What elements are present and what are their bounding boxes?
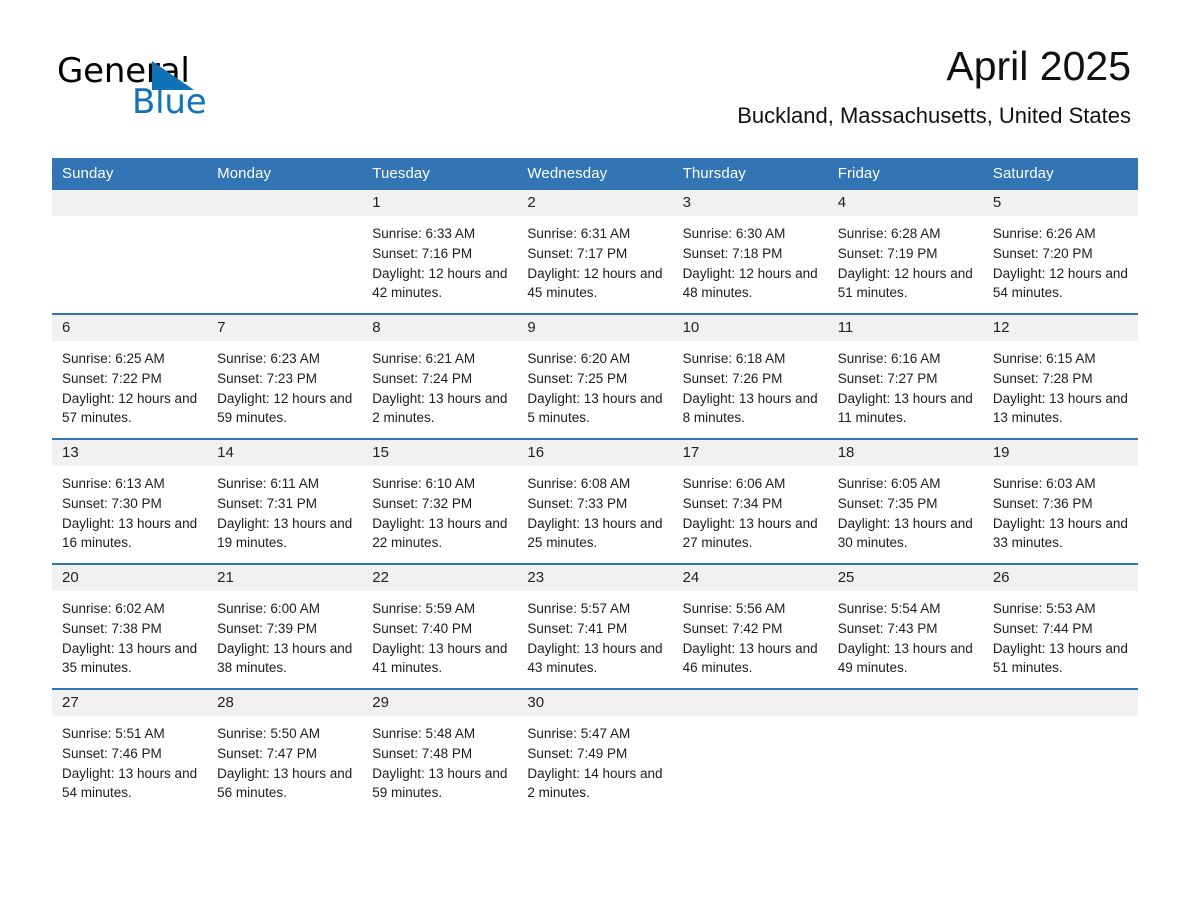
- sunrise-text: Sunrise: 6:21 AM: [372, 349, 511, 369]
- sunrise-text: Sunrise: 5:57 AM: [527, 599, 666, 619]
- calendar-day-cell[interactable]: 8Sunrise: 6:21 AMSunset: 7:24 PMDaylight…: [362, 315, 517, 438]
- day-number-band: 28: [207, 690, 362, 716]
- daylight-text: Daylight: 14 hours and 2 minutes.: [527, 764, 666, 804]
- day-number-band: 8: [362, 315, 517, 341]
- daylight-text: Daylight: 12 hours and 42 minutes.: [372, 264, 511, 304]
- daylight-text: Daylight: 13 hours and 16 minutes.: [62, 514, 201, 554]
- daylight-text: Daylight: 12 hours and 57 minutes.: [62, 389, 201, 429]
- daylight-text: Daylight: 13 hours and 56 minutes.: [217, 764, 356, 804]
- sunrise-text: Sunrise: 6:03 AM: [993, 474, 1132, 494]
- title-block: April 2025 Buckland, Massachusetts, Unit…: [737, 42, 1131, 129]
- day-number-band: [828, 690, 983, 716]
- day-details: Sunrise: 6:11 AMSunset: 7:31 PMDaylight:…: [207, 466, 362, 553]
- day-number: 5: [983, 190, 1138, 216]
- day-details: Sunrise: 6:26 AMSunset: 7:20 PMDaylight:…: [983, 216, 1138, 303]
- sunrise-text: Sunrise: 5:50 AM: [217, 724, 356, 744]
- sunset-text: Sunset: 7:36 PM: [993, 494, 1132, 514]
- day-number: 2: [517, 190, 672, 216]
- day-details: Sunrise: 5:54 AMSunset: 7:43 PMDaylight:…: [828, 591, 983, 678]
- location-subtitle: Buckland, Massachusetts, United States: [737, 103, 1131, 129]
- calendar-day-cell[interactable]: 27Sunrise: 5:51 AMSunset: 7:46 PMDayligh…: [52, 690, 207, 813]
- day-number: 27: [52, 690, 207, 716]
- calendar-day-cell-empty: [983, 690, 1138, 813]
- sunrise-sunset-calendar: SundayMondayTuesdayWednesdayThursdayFrid…: [52, 158, 1138, 813]
- calendar-day-cell[interactable]: 7Sunrise: 6:23 AMSunset: 7:23 PMDaylight…: [207, 315, 362, 438]
- sunrise-text: Sunrise: 6:33 AM: [372, 224, 511, 244]
- daylight-text: Daylight: 13 hours and 25 minutes.: [527, 514, 666, 554]
- day-number: 14: [207, 440, 362, 466]
- day-number: 26: [983, 565, 1138, 591]
- sunset-text: Sunset: 7:48 PM: [372, 744, 511, 764]
- calendar-day-cell-empty: [52, 190, 207, 313]
- calendar-header-row: SundayMondayTuesdayWednesdayThursdayFrid…: [52, 158, 1138, 190]
- day-details: Sunrise: 6:21 AMSunset: 7:24 PMDaylight:…: [362, 341, 517, 428]
- day-details: Sunrise: 6:06 AMSunset: 7:34 PMDaylight:…: [673, 466, 828, 553]
- day-number-band: 30: [517, 690, 672, 716]
- sunset-text: Sunset: 7:26 PM: [683, 369, 822, 389]
- sunrise-text: Sunrise: 6:16 AM: [838, 349, 977, 369]
- calendar-day-cell[interactable]: 4Sunrise: 6:28 AMSunset: 7:19 PMDaylight…: [828, 190, 983, 313]
- day-details: Sunrise: 6:08 AMSunset: 7:33 PMDaylight:…: [517, 466, 672, 553]
- calendar-day-cell[interactable]: 16Sunrise: 6:08 AMSunset: 7:33 PMDayligh…: [517, 440, 672, 563]
- sunrise-text: Sunrise: 6:02 AM: [62, 599, 201, 619]
- sunrise-text: Sunrise: 5:51 AM: [62, 724, 201, 744]
- day-number-band: 29: [362, 690, 517, 716]
- sunset-text: Sunset: 7:20 PM: [993, 244, 1132, 264]
- weekday-header-friday: Friday: [828, 158, 983, 190]
- daylight-text: Daylight: 12 hours and 51 minutes.: [838, 264, 977, 304]
- daylight-text: Daylight: 13 hours and 38 minutes.: [217, 639, 356, 679]
- day-number: 25: [828, 565, 983, 591]
- day-details: Sunrise: 5:48 AMSunset: 7:48 PMDaylight:…: [362, 716, 517, 803]
- day-number: 29: [362, 690, 517, 716]
- day-number-band: 2: [517, 190, 672, 216]
- day-details: Sunrise: 5:56 AMSunset: 7:42 PMDaylight:…: [673, 591, 828, 678]
- weekday-header-monday: Monday: [207, 158, 362, 190]
- day-number-band: 22: [362, 565, 517, 591]
- daylight-text: Daylight: 13 hours and 33 minutes.: [993, 514, 1132, 554]
- sunrise-text: Sunrise: 5:54 AM: [838, 599, 977, 619]
- day-details: Sunrise: 5:59 AMSunset: 7:40 PMDaylight:…: [362, 591, 517, 678]
- day-number: 19: [983, 440, 1138, 466]
- daylight-text: Daylight: 13 hours and 41 minutes.: [372, 639, 511, 679]
- day-details: Sunrise: 6:18 AMSunset: 7:26 PMDaylight:…: [673, 341, 828, 428]
- calendar-day-cell[interactable]: 5Sunrise: 6:26 AMSunset: 7:20 PMDaylight…: [983, 190, 1138, 313]
- day-details: Sunrise: 6:00 AMSunset: 7:39 PMDaylight:…: [207, 591, 362, 678]
- sunset-text: Sunset: 7:49 PM: [527, 744, 666, 764]
- daylight-text: Daylight: 13 hours and 27 minutes.: [683, 514, 822, 554]
- weekday-header-sunday: Sunday: [52, 158, 207, 190]
- daylight-text: Daylight: 12 hours and 54 minutes.: [993, 264, 1132, 304]
- sunrise-text: Sunrise: 6:20 AM: [527, 349, 666, 369]
- day-number-band: 7: [207, 315, 362, 341]
- day-number-band: 9: [517, 315, 672, 341]
- day-number-band: [207, 190, 362, 216]
- calendar-day-cell[interactable]: 28Sunrise: 5:50 AMSunset: 7:47 PMDayligh…: [207, 690, 362, 813]
- sunrise-text: Sunrise: 6:11 AM: [217, 474, 356, 494]
- calendar-day-cell[interactable]: 19Sunrise: 6:03 AMSunset: 7:36 PMDayligh…: [983, 440, 1138, 563]
- daylight-text: Daylight: 13 hours and 59 minutes.: [372, 764, 511, 804]
- day-number: 17: [673, 440, 828, 466]
- daylight-text: Daylight: 13 hours and 51 minutes.: [993, 639, 1132, 679]
- sunset-text: Sunset: 7:33 PM: [527, 494, 666, 514]
- day-number: 13: [52, 440, 207, 466]
- calendar-day-cell[interactable]: 30Sunrise: 5:47 AMSunset: 7:49 PMDayligh…: [517, 690, 672, 813]
- sunrise-text: Sunrise: 6:18 AM: [683, 349, 822, 369]
- day-details: Sunrise: 5:51 AMSunset: 7:46 PMDaylight:…: [52, 716, 207, 803]
- sunrise-text: Sunrise: 6:05 AM: [838, 474, 977, 494]
- day-number: 21: [207, 565, 362, 591]
- day-details: Sunrise: 6:16 AMSunset: 7:27 PMDaylight:…: [828, 341, 983, 428]
- day-number: 4: [828, 190, 983, 216]
- weekday-header-saturday: Saturday: [983, 158, 1138, 190]
- day-number: 16: [517, 440, 672, 466]
- sunset-text: Sunset: 7:41 PM: [527, 619, 666, 639]
- daylight-text: Daylight: 13 hours and 5 minutes.: [527, 389, 666, 429]
- day-number-band: 20: [52, 565, 207, 591]
- sunrise-text: Sunrise: 5:56 AM: [683, 599, 822, 619]
- calendar-day-cell[interactable]: 10Sunrise: 6:18 AMSunset: 7:26 PMDayligh…: [673, 315, 828, 438]
- day-details: Sunrise: 5:53 AMSunset: 7:44 PMDaylight:…: [983, 591, 1138, 678]
- calendar-day-cell[interactable]: 2Sunrise: 6:31 AMSunset: 7:17 PMDaylight…: [517, 190, 672, 313]
- day-number: 24: [673, 565, 828, 591]
- day-number-band: 26: [983, 565, 1138, 591]
- day-number-band: 4: [828, 190, 983, 216]
- sunrise-text: Sunrise: 6:13 AM: [62, 474, 201, 494]
- sunrise-text: Sunrise: 6:06 AM: [683, 474, 822, 494]
- calendar-day-cell[interactable]: 18Sunrise: 6:05 AMSunset: 7:35 PMDayligh…: [828, 440, 983, 563]
- weekday-header-tuesday: Tuesday: [362, 158, 517, 190]
- sunrise-text: Sunrise: 6:10 AM: [372, 474, 511, 494]
- day-number: 18: [828, 440, 983, 466]
- day-number: 6: [52, 315, 207, 341]
- day-details: Sunrise: 6:28 AMSunset: 7:19 PMDaylight:…: [828, 216, 983, 303]
- sunrise-text: Sunrise: 6:31 AM: [527, 224, 666, 244]
- calendar-day-cell[interactable]: 24Sunrise: 5:56 AMSunset: 7:42 PMDayligh…: [673, 565, 828, 688]
- day-number: 9: [517, 315, 672, 341]
- daylight-text: Daylight: 12 hours and 45 minutes.: [527, 264, 666, 304]
- day-number-band: [983, 690, 1138, 716]
- daylight-text: Daylight: 12 hours and 59 minutes.: [217, 389, 356, 429]
- day-number: 8: [362, 315, 517, 341]
- day-details: Sunrise: 6:23 AMSunset: 7:23 PMDaylight:…: [207, 341, 362, 428]
- sunset-text: Sunset: 7:40 PM: [372, 619, 511, 639]
- sunrise-text: Sunrise: 6:28 AM: [838, 224, 977, 244]
- day-number: 28: [207, 690, 362, 716]
- sunset-text: Sunset: 7:23 PM: [217, 369, 356, 389]
- sunset-text: Sunset: 7:16 PM: [372, 244, 511, 264]
- calendar-day-cell-empty: [207, 190, 362, 313]
- sunset-text: Sunset: 7:22 PM: [62, 369, 201, 389]
- sunrise-text: Sunrise: 5:47 AM: [527, 724, 666, 744]
- calendar-day-cell[interactable]: 14Sunrise: 6:11 AMSunset: 7:31 PMDayligh…: [207, 440, 362, 563]
- weekday-header-thursday: Thursday: [673, 158, 828, 190]
- day-number-band: [52, 190, 207, 216]
- sunrise-text: Sunrise: 5:59 AM: [372, 599, 511, 619]
- calendar-page: General Blue April 2025 Buckland, Massac…: [0, 0, 1188, 918]
- calendar-day-cell[interactable]: 20Sunrise: 6:02 AMSunset: 7:38 PMDayligh…: [52, 565, 207, 688]
- day-details: Sunrise: 5:57 AMSunset: 7:41 PMDaylight:…: [517, 591, 672, 678]
- calendar-day-cell[interactable]: 11Sunrise: 6:16 AMSunset: 7:27 PMDayligh…: [828, 315, 983, 438]
- day-number-band: 6: [52, 315, 207, 341]
- calendar-day-cell[interactable]: 9Sunrise: 6:20 AMSunset: 7:25 PMDaylight…: [517, 315, 672, 438]
- sunset-text: Sunset: 7:35 PM: [838, 494, 977, 514]
- sunrise-text: Sunrise: 5:53 AM: [993, 599, 1132, 619]
- sunset-text: Sunset: 7:39 PM: [217, 619, 356, 639]
- calendar-day-cell[interactable]: 3Sunrise: 6:30 AMSunset: 7:18 PMDaylight…: [673, 190, 828, 313]
- day-number: 10: [673, 315, 828, 341]
- calendar-day-cell[interactable]: 13Sunrise: 6:13 AMSunset: 7:30 PMDayligh…: [52, 440, 207, 563]
- day-number-band: 1: [362, 190, 517, 216]
- day-number-band: 11: [828, 315, 983, 341]
- day-number-band: 16: [517, 440, 672, 466]
- sunset-text: Sunset: 7:34 PM: [683, 494, 822, 514]
- sunset-text: Sunset: 7:19 PM: [838, 244, 977, 264]
- day-number-band: 13: [52, 440, 207, 466]
- sunset-text: Sunset: 7:46 PM: [62, 744, 201, 764]
- day-number-band: 21: [207, 565, 362, 591]
- calendar-day-cell[interactable]: 21Sunrise: 6:00 AMSunset: 7:39 PMDayligh…: [207, 565, 362, 688]
- day-number: 23: [517, 565, 672, 591]
- sunset-text: Sunset: 7:43 PM: [838, 619, 977, 639]
- sunset-text: Sunset: 7:25 PM: [527, 369, 666, 389]
- day-number: 1: [362, 190, 517, 216]
- daylight-text: Daylight: 12 hours and 48 minutes.: [683, 264, 822, 304]
- day-number: 30: [517, 690, 672, 716]
- day-number-band: 14: [207, 440, 362, 466]
- day-details: Sunrise: 6:20 AMSunset: 7:25 PMDaylight:…: [517, 341, 672, 428]
- day-number-band: 3: [673, 190, 828, 216]
- sunset-text: Sunset: 7:47 PM: [217, 744, 356, 764]
- day-details: Sunrise: 6:03 AMSunset: 7:36 PMDaylight:…: [983, 466, 1138, 553]
- day-details: Sunrise: 6:05 AMSunset: 7:35 PMDaylight:…: [828, 466, 983, 553]
- sunset-text: Sunset: 7:31 PM: [217, 494, 356, 514]
- logo-text-blue: Blue: [132, 83, 206, 121]
- day-number-band: 25: [828, 565, 983, 591]
- calendar-day-cell[interactable]: 6Sunrise: 6:25 AMSunset: 7:22 PMDaylight…: [52, 315, 207, 438]
- day-details: Sunrise: 6:31 AMSunset: 7:17 PMDaylight:…: [517, 216, 672, 303]
- day-number-band: [673, 690, 828, 716]
- sunset-text: Sunset: 7:42 PM: [683, 619, 822, 639]
- day-number: 15: [362, 440, 517, 466]
- day-details: Sunrise: 6:13 AMSunset: 7:30 PMDaylight:…: [52, 466, 207, 553]
- page-title: April 2025: [737, 42, 1131, 90]
- day-number-band: 10: [673, 315, 828, 341]
- calendar-day-cell[interactable]: 12Sunrise: 6:15 AMSunset: 7:28 PMDayligh…: [983, 315, 1138, 438]
- day-number-band: 12: [983, 315, 1138, 341]
- day-number-band: 5: [983, 190, 1138, 216]
- daylight-text: Daylight: 13 hours and 2 minutes.: [372, 389, 511, 429]
- weekday-header-wednesday: Wednesday: [517, 158, 672, 190]
- daylight-text: Daylight: 13 hours and 13 minutes.: [993, 389, 1132, 429]
- sunset-text: Sunset: 7:24 PM: [372, 369, 511, 389]
- daylight-text: Daylight: 13 hours and 11 minutes.: [838, 389, 977, 429]
- day-details: Sunrise: 6:25 AMSunset: 7:22 PMDaylight:…: [52, 341, 207, 428]
- daylight-text: Daylight: 13 hours and 35 minutes.: [62, 639, 201, 679]
- calendar-day-cell[interactable]: 15Sunrise: 6:10 AMSunset: 7:32 PMDayligh…: [362, 440, 517, 563]
- generalblue-logo[interactable]: General Blue: [57, 52, 287, 124]
- calendar-day-cell[interactable]: 25Sunrise: 5:54 AMSunset: 7:43 PMDayligh…: [828, 565, 983, 688]
- day-number-band: 18: [828, 440, 983, 466]
- sunset-text: Sunset: 7:44 PM: [993, 619, 1132, 639]
- sunrise-text: Sunrise: 6:26 AM: [993, 224, 1132, 244]
- calendar-day-cell[interactable]: 23Sunrise: 5:57 AMSunset: 7:41 PMDayligh…: [517, 565, 672, 688]
- sunrise-text: Sunrise: 6:25 AM: [62, 349, 201, 369]
- day-details: Sunrise: 6:33 AMSunset: 7:16 PMDaylight:…: [362, 216, 517, 303]
- day-number: 11: [828, 315, 983, 341]
- day-number-band: 24: [673, 565, 828, 591]
- page-masthead: General Blue April 2025 Buckland, Massac…: [0, 0, 1188, 118]
- daylight-text: Daylight: 13 hours and 8 minutes.: [683, 389, 822, 429]
- day-number-band: 23: [517, 565, 672, 591]
- calendar-day-cell-empty: [828, 690, 983, 813]
- day-details: Sunrise: 6:10 AMSunset: 7:32 PMDaylight:…: [362, 466, 517, 553]
- day-details: Sunrise: 6:15 AMSunset: 7:28 PMDaylight:…: [983, 341, 1138, 428]
- sunset-text: Sunset: 7:18 PM: [683, 244, 822, 264]
- sunrise-text: Sunrise: 6:00 AM: [217, 599, 356, 619]
- daylight-text: Daylight: 13 hours and 22 minutes.: [372, 514, 511, 554]
- calendar-body: 1Sunrise: 6:33 AMSunset: 7:16 PMDaylight…: [52, 190, 1138, 813]
- daylight-text: Daylight: 13 hours and 43 minutes.: [527, 639, 666, 679]
- sunset-text: Sunset: 7:27 PM: [838, 369, 977, 389]
- day-number-band: 19: [983, 440, 1138, 466]
- calendar-week-row: 27Sunrise: 5:51 AMSunset: 7:46 PMDayligh…: [52, 689, 1138, 813]
- sunset-text: Sunset: 7:28 PM: [993, 369, 1132, 389]
- calendar-week-row: 1Sunrise: 6:33 AMSunset: 7:16 PMDaylight…: [52, 190, 1138, 314]
- day-details: Sunrise: 5:47 AMSunset: 7:49 PMDaylight:…: [517, 716, 672, 803]
- calendar-day-cell[interactable]: 1Sunrise: 6:33 AMSunset: 7:16 PMDaylight…: [362, 190, 517, 313]
- calendar-day-cell[interactable]: 17Sunrise: 6:06 AMSunset: 7:34 PMDayligh…: [673, 440, 828, 563]
- sunrise-text: Sunrise: 6:30 AM: [683, 224, 822, 244]
- day-number-band: 17: [673, 440, 828, 466]
- day-details: Sunrise: 6:30 AMSunset: 7:18 PMDaylight:…: [673, 216, 828, 303]
- day-number: 22: [362, 565, 517, 591]
- day-number: 12: [983, 315, 1138, 341]
- daylight-text: Daylight: 13 hours and 19 minutes.: [217, 514, 356, 554]
- day-number: 20: [52, 565, 207, 591]
- day-number-band: 15: [362, 440, 517, 466]
- sunrise-text: Sunrise: 6:23 AM: [217, 349, 356, 369]
- sunset-text: Sunset: 7:32 PM: [372, 494, 511, 514]
- day-details: Sunrise: 5:50 AMSunset: 7:47 PMDaylight:…: [207, 716, 362, 803]
- sunset-text: Sunset: 7:38 PM: [62, 619, 201, 639]
- calendar-day-cell-empty: [673, 690, 828, 813]
- daylight-text: Daylight: 13 hours and 46 minutes.: [683, 639, 822, 679]
- day-number-band: 27: [52, 690, 207, 716]
- sunrise-text: Sunrise: 6:08 AM: [527, 474, 666, 494]
- sunset-text: Sunset: 7:30 PM: [62, 494, 201, 514]
- sunrise-text: Sunrise: 6:15 AM: [993, 349, 1132, 369]
- daylight-text: Daylight: 13 hours and 30 minutes.: [838, 514, 977, 554]
- calendar-week-row: 13Sunrise: 6:13 AMSunset: 7:30 PMDayligh…: [52, 439, 1138, 564]
- daylight-text: Daylight: 13 hours and 54 minutes.: [62, 764, 201, 804]
- sunset-text: Sunset: 7:17 PM: [527, 244, 666, 264]
- daylight-text: Daylight: 13 hours and 49 minutes.: [838, 639, 977, 679]
- calendar-day-cell[interactable]: 29Sunrise: 5:48 AMSunset: 7:48 PMDayligh…: [362, 690, 517, 813]
- day-number: 7: [207, 315, 362, 341]
- calendar-day-cell[interactable]: 26Sunrise: 5:53 AMSunset: 7:44 PMDayligh…: [983, 565, 1138, 688]
- day-details: Sunrise: 6:02 AMSunset: 7:38 PMDaylight:…: [52, 591, 207, 678]
- calendar-week-row: 6Sunrise: 6:25 AMSunset: 7:22 PMDaylight…: [52, 314, 1138, 439]
- day-number: 3: [673, 190, 828, 216]
- sunrise-text: Sunrise: 5:48 AM: [372, 724, 511, 744]
- calendar-day-cell[interactable]: 22Sunrise: 5:59 AMSunset: 7:40 PMDayligh…: [362, 565, 517, 688]
- calendar-week-row: 20Sunrise: 6:02 AMSunset: 7:38 PMDayligh…: [52, 564, 1138, 689]
